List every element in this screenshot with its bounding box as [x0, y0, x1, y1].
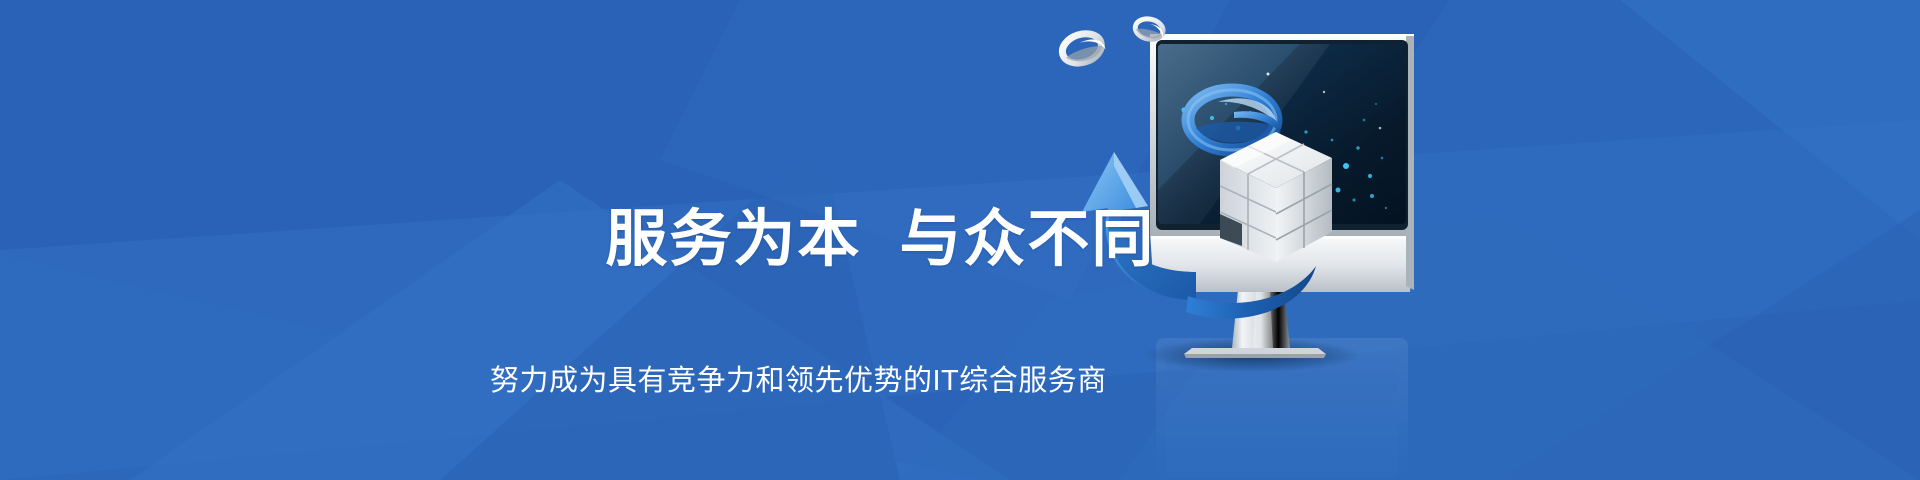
headline-part-2: 与众不同 [899, 205, 1155, 274]
floating-e-small [1133, 16, 1166, 42]
hero-subtitle: 努力成为具有竞争力和领先优势的IT综合服务商 [490, 363, 1110, 399]
hero-headline: 服务为本与众不同 [490, 142, 1110, 337]
headline-part-1: 服务为本 [605, 205, 861, 274]
hero-banner: 服务为本与众不同 努力成为具有竞争力和领先优势的IT综合服务商 [0, 0, 1920, 480]
hero-text-block: 服务为本与众不同 努力成为具有竞争力和领先优势的IT综合服务商 [490, 142, 1110, 400]
